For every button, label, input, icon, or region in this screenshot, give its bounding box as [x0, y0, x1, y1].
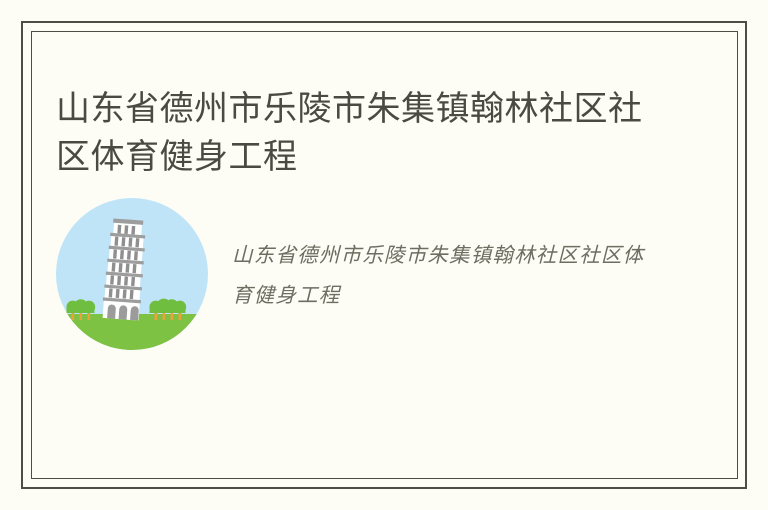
page-title: 山东省德州市乐陵市朱集镇翰林社区社区体育健身工程 [56, 85, 656, 181]
page-root: 山东省德州市乐陵市朱集镇翰林社区社区体育健身工程 [0, 0, 768, 510]
article-content-row: 山东省德州市乐陵市朱集镇翰林社区社区体育健身工程 [56, 198, 676, 358]
article-body-text: 山东省德州市乐陵市朱集镇翰林社区社区体育健身工程 [232, 235, 662, 315]
leaning-tower-of-pisa-icon [56, 198, 208, 350]
